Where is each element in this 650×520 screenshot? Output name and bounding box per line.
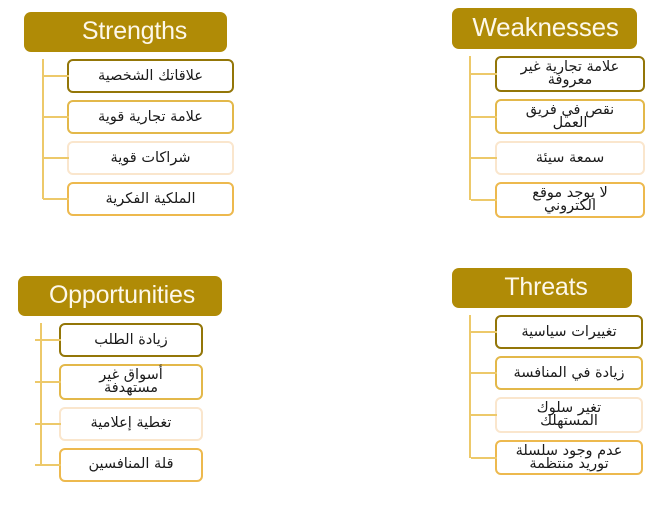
- swot-item[interactable]: الملكية الفكرية: [67, 182, 234, 216]
- item-list-opportunities: زيادة الطلب أسواق غير مستهدفة تغطية إعلا…: [18, 323, 228, 482]
- swot-item-label: عدم وجود سلسلة توريد منتظمة: [516, 445, 623, 471]
- swot-item-label: سمعة سيئة: [536, 152, 605, 165]
- connector-trunk-strengths: [42, 59, 44, 199]
- swot-item[interactable]: لا يوجد موقع الكتروني: [495, 182, 645, 218]
- swot-item[interactable]: عدم وجود سلسلة توريد منتظمة: [495, 440, 643, 476]
- swot-item-label: علاقاتك الشخصية: [98, 70, 203, 83]
- connector-trunk-weaknesses: [469, 56, 471, 200]
- swot-item-label: علامة تجارية غير معروفة: [521, 61, 620, 87]
- quadrant-header-opportunities[interactable]: Opportunities: [18, 276, 222, 316]
- swot-item[interactable]: تغطية إعلامية: [59, 407, 203, 441]
- swot-item[interactable]: علاقاتك الشخصية: [67, 59, 234, 93]
- swot-item[interactable]: سمعة سيئة: [495, 141, 645, 175]
- item-list-threats: تغييرات سياسية زيادة في المنافسة تغير سل…: [452, 315, 637, 475]
- swot-item[interactable]: تغييرات سياسية: [495, 315, 643, 349]
- swot-item-label: شراكات قوية: [111, 152, 191, 165]
- quadrant-header-threats[interactable]: Threats: [452, 268, 632, 308]
- connector-trunk-threats: [469, 315, 471, 458]
- quadrant-opportunities: Opportunities زيادة الطلب أسواق غير مسته…: [18, 276, 228, 482]
- swot-item[interactable]: زيادة الطلب: [59, 323, 203, 357]
- swot-item[interactable]: شراكات قوية: [67, 141, 234, 175]
- connector-trunk-opportunities: [40, 323, 42, 465]
- quadrant-threats: Threats تغييرات سياسية زيادة في المنافسة…: [452, 268, 637, 475]
- swot-item-label: تغير سلوك المستهلك: [537, 402, 601, 428]
- swot-item-label: أسواق غير مستهدفة: [99, 369, 163, 395]
- quadrant-strengths: Strengths علاقاتك الشخصية علامة تجارية ق…: [24, 12, 234, 216]
- swot-item[interactable]: علامة تجارية غير معروفة: [495, 56, 645, 92]
- quadrant-header-strengths[interactable]: Strengths: [24, 12, 227, 52]
- item-list-strengths: علاقاتك الشخصية علامة تجارية قوية شراكات…: [24, 59, 234, 216]
- swot-item[interactable]: علامة تجارية قوية: [67, 100, 234, 134]
- swot-item-label: قلة المنافسين: [88, 458, 173, 471]
- quadrant-header-weaknesses[interactable]: Weaknesses: [452, 8, 637, 49]
- swot-item[interactable]: قلة المنافسين: [59, 448, 203, 482]
- swot-item[interactable]: تغير سلوك المستهلك: [495, 397, 643, 433]
- swot-item-label: زيادة الطلب: [94, 334, 168, 347]
- swot-item-label: زيادة في المنافسة: [513, 367, 624, 380]
- swot-item-label: تغطية إعلامية: [91, 417, 172, 430]
- swot-item-label: علامة تجارية قوية: [98, 111, 203, 124]
- swot-item-label: نقص في فريق العمل: [526, 104, 614, 130]
- swot-item-label: تغييرات سياسية: [521, 326, 616, 339]
- swot-item[interactable]: نقص في فريق العمل: [495, 99, 645, 135]
- swot-diagram: Strengths علاقاتك الشخصية علامة تجارية ق…: [0, 0, 650, 520]
- swot-item[interactable]: زيادة في المنافسة: [495, 356, 643, 390]
- swot-item-label: لا يوجد موقع الكتروني: [532, 187, 608, 213]
- swot-item[interactable]: أسواق غير مستهدفة: [59, 364, 203, 400]
- swot-item-label: الملكية الفكرية: [106, 193, 196, 206]
- item-list-weaknesses: علامة تجارية غير معروفة نقص في فريق العم…: [452, 56, 642, 218]
- quadrant-weaknesses: Weaknesses علامة تجارية غير معروفة نقص ف…: [452, 8, 642, 218]
